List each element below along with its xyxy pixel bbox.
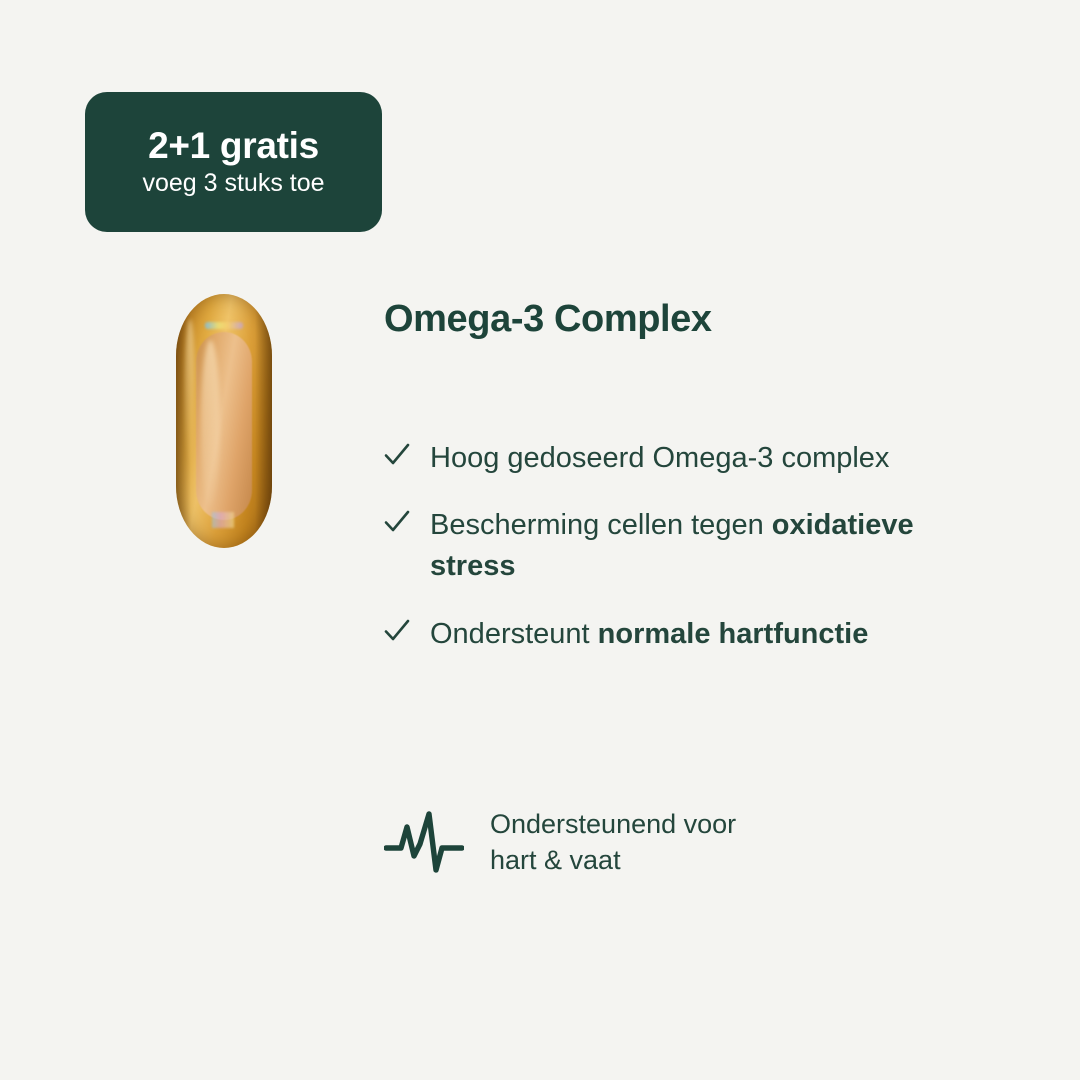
benefit-text: Ondersteunt normale hartfunctie — [430, 614, 868, 655]
list-item: Bescherming cellen tegen oxidatieve stre… — [384, 505, 984, 587]
benefit-list: Hoog gedoseerd Omega-3 complex Beschermi… — [384, 438, 984, 681]
usp-heart-health: Ondersteunend voor hart & vaat — [384, 806, 736, 879]
capsule-core-gloss — [201, 340, 220, 508]
check-icon — [384, 614, 410, 648]
product-image-capsule — [176, 294, 272, 548]
benefit-text: Hoog gedoseerd Omega-3 complex — [430, 438, 889, 479]
usp-label: Ondersteunend voor hart & vaat — [490, 806, 736, 879]
capsule-shell — [176, 294, 272, 548]
benefit-text: Bescherming cellen tegen oxidatieve stre… — [430, 505, 984, 587]
list-item: Ondersteunt normale hartfunctie — [384, 614, 984, 655]
usp-label-line2: hart & vaat — [490, 845, 621, 875]
check-icon — [384, 438, 410, 472]
check-icon — [384, 505, 410, 539]
list-item: Hoog gedoseerd Omega-3 complex — [384, 438, 984, 479]
usp-label-line1: Ondersteunend voor — [490, 809, 736, 839]
promo-badge-subtitle: voeg 3 stuks toe — [142, 168, 324, 198]
page-title: Omega-3 Complex — [384, 298, 712, 341]
heartbeat-ecg-icon — [384, 808, 464, 876]
promo-badge[interactable]: 2+1 gratis voeg 3 stuks toe — [85, 92, 382, 232]
capsule-shadow-right — [255, 294, 272, 548]
capsule-top-highlight — [205, 322, 243, 329]
capsule-rim-gloss — [185, 319, 196, 466]
promo-badge-title: 2+1 gratis — [148, 126, 319, 167]
capsule-bottom-highlight — [212, 512, 233, 528]
